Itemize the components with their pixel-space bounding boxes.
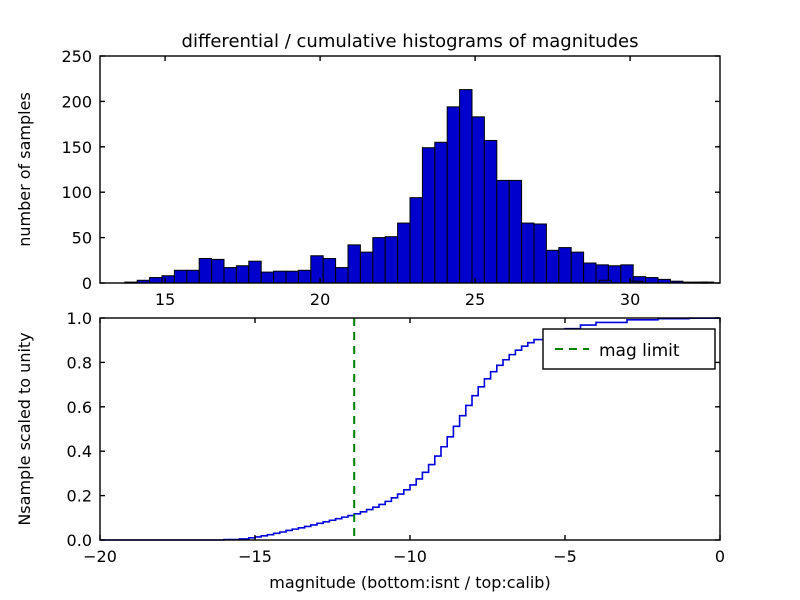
bottom-x-tick-label: 0 [715,547,725,566]
histogram-bar [385,237,397,283]
histogram-bar [559,248,571,283]
histogram-bar [646,278,658,283]
top-y-tick-label: 100 [61,183,92,202]
histogram-bar [199,258,211,283]
histogram-bar [497,180,509,283]
histogram-bar [522,223,534,283]
histogram-bar [373,238,385,283]
histogram-bar [509,180,521,283]
histogram-bars [125,90,708,283]
histogram-bar [435,142,447,283]
histogram-bar [621,265,633,283]
histogram-bar [224,268,236,283]
histogram-bar [236,266,248,283]
histogram-bar [174,270,186,283]
top-x-tick-label: 25 [465,290,485,309]
histogram-bar [261,272,273,283]
histogram-bar [422,148,434,283]
bottom-x-tick-label: −20 [83,547,117,566]
top-x-tick-label: 30 [620,290,640,309]
histogram-bar [584,263,596,283]
bottom-x-tick-label: −5 [553,547,577,566]
bottom-y-tick-label: 0.6 [67,398,92,417]
legend: mag limit [543,329,715,369]
histogram-bar [398,223,410,283]
figure-title: differential / cumulative histograms of … [182,31,639,52]
top-y-tick-label: 50 [72,229,92,248]
bottom-y-tick-label: 0.2 [67,487,92,506]
histogram-bar [249,261,261,283]
histogram-bar [286,271,298,283]
bottom-x-tick-label: −15 [238,547,272,566]
bottom-y-axis-label: Nsample scaled to unity [15,332,34,525]
histogram-bar [360,252,372,283]
histogram-bar [336,268,348,283]
histogram-bar [447,107,459,283]
top-y-tick-label: 200 [61,92,92,111]
histogram-bar [311,256,323,283]
top-y-axis-label: number of samples [15,92,34,247]
histogram-bar [460,90,472,283]
bottom-y-tick-label: 0.4 [67,442,92,461]
bottom-y-tick-label: 1.0 [67,309,92,328]
histogram-bar [571,252,583,283]
histogram-bar [274,271,286,283]
histogram-bar [348,245,360,283]
top-y-tick-label: 0 [82,274,92,293]
bottom-x-tick-label: −10 [393,547,427,566]
histogram-bar [162,276,174,283]
top-x-tick-label: 20 [310,290,330,309]
top-y-tick-label: 150 [61,138,92,157]
histogram-bar [410,198,422,283]
top-subplot: 05010015020025015202530number of samples [15,47,720,309]
histogram-bar [187,270,199,283]
top-y-tick-label: 250 [61,47,92,66]
figure-title-group: differential / cumulative histograms of … [182,31,639,52]
histogram-bar [298,270,310,283]
bottom-x-axis-label: magnitude (bottom:isnt / top:calib) [269,573,550,592]
histogram-bar [212,259,224,283]
histogram-bar [484,140,496,283]
top-x-tick-label: 15 [155,290,175,309]
histogram-bar [546,250,558,283]
matplotlib-figure: differential / cumulative histograms of … [0,0,800,600]
bottom-y-tick-label: 0.8 [67,353,92,372]
histogram-bar [472,117,484,283]
histogram-bar [150,278,162,283]
histogram-bar [323,258,335,283]
figure-canvas: differential / cumulative histograms of … [0,0,800,600]
legend-label-mag-limit: mag limit [599,341,680,361]
histogram-bar [534,224,546,283]
